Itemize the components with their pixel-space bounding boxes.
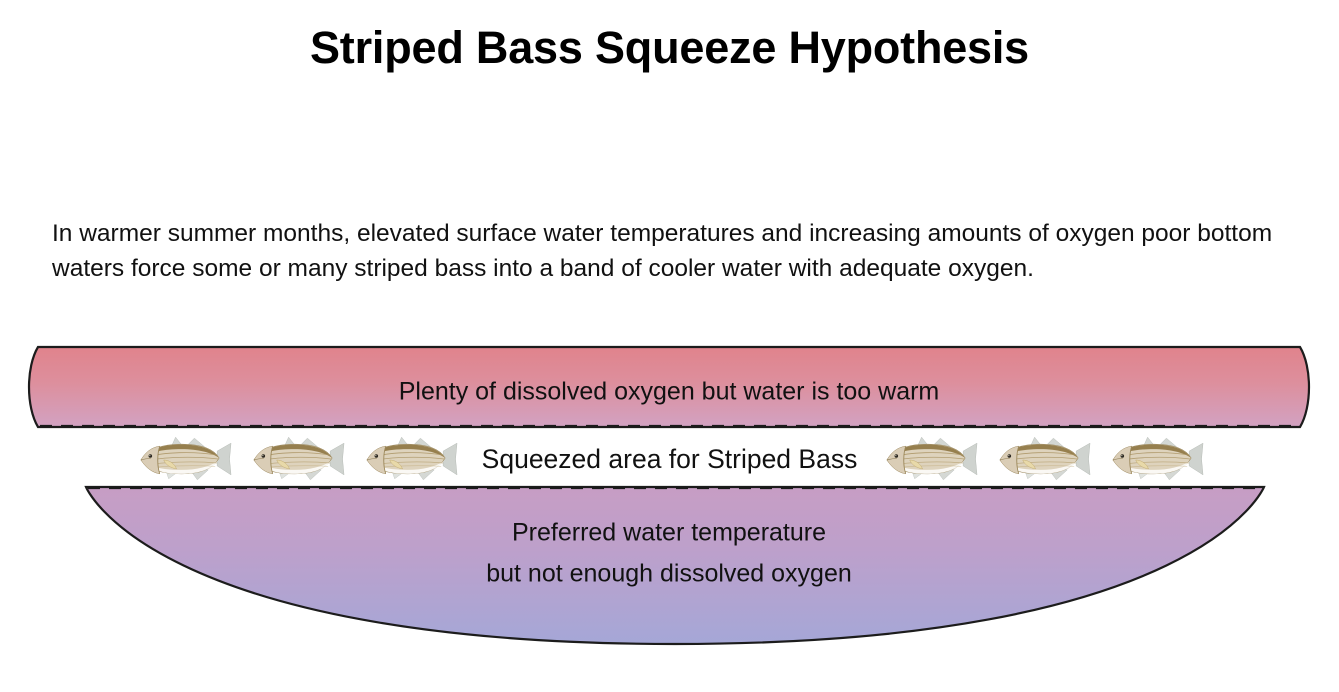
top-band: Plenty of dissolved oxygen but water is … [29, 347, 1309, 427]
page-title: Striped Bass Squeeze Hypothesis [0, 22, 1339, 74]
intro-paragraph: In warmer summer months, elevated surfac… [52, 216, 1292, 286]
bottom-bowl-label-line2: but not enough dissolved oxygen [486, 560, 852, 588]
diagram-svg: Plenty of dissolved oxygen but water is … [0, 336, 1339, 666]
bottom-bowl: Preferred water temperature but not enou… [86, 487, 1264, 644]
striped-bass-squeeze-diagram: Plenty of dissolved oxygen but water is … [0, 336, 1339, 666]
top-band-label: Plenty of dissolved oxygen but water is … [399, 378, 940, 406]
bottom-bowl-label-line1: Preferred water temperature [512, 519, 826, 547]
